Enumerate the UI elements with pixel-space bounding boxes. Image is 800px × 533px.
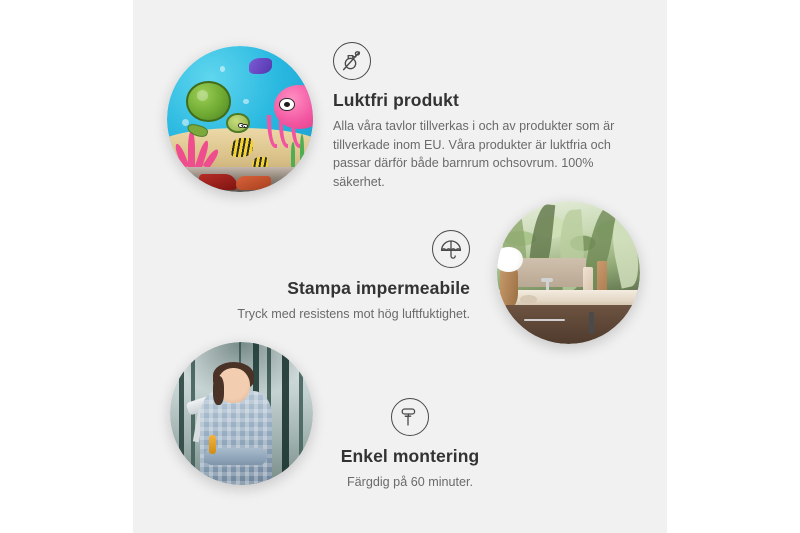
- feature-description: Alla våra tavlor tillverkas i och av pro…: [333, 117, 616, 192]
- feature-description: Färgdig på 60 minuter.: [300, 473, 520, 492]
- feature-odour-free: Luktfri produkt Alla våra tavlor tillver…: [333, 42, 616, 192]
- product-photo-forest-mural[interactable]: [170, 342, 313, 485]
- vase: [500, 267, 519, 307]
- feature-description: Tryck med resistens mot hög luftfuktighe…: [190, 305, 470, 324]
- bathroom-wallpaper-image: [497, 201, 640, 344]
- bubble-icon: [220, 66, 225, 71]
- coral-branch: [173, 143, 189, 169]
- feature-title: Enkel montering: [300, 446, 520, 467]
- turtle-eye: [242, 124, 248, 129]
- yellow-fish-icon: [231, 138, 253, 157]
- feature-title: Stampa impermeabile: [190, 278, 470, 299]
- octopus-eye: [279, 98, 294, 111]
- octopus-icon: [266, 85, 313, 149]
- feature-waterproof: Stampa impermeabile Tryck med resistens …: [190, 230, 470, 324]
- forest-mural-image: [170, 342, 313, 485]
- product-photo-ocean-mural[interactable]: [167, 46, 313, 192]
- woman-hair: [213, 376, 224, 405]
- umbrella-icon: [432, 230, 470, 268]
- no-odour-perfume-icon: [333, 42, 371, 80]
- coral-branch: [188, 130, 195, 169]
- feature-title: Luktfri produkt: [333, 90, 616, 111]
- turtle-shell: [186, 81, 231, 122]
- purple-fish-icon: [249, 58, 272, 74]
- turtle-head: [226, 113, 249, 133]
- screenshot-root: Luktfri produkt Alla våra tavlor tillver…: [0, 0, 800, 533]
- product-photo-bathroom-wallpaper[interactable]: [497, 201, 640, 344]
- soap-dish: [520, 295, 537, 304]
- room-floor-strip: [167, 167, 313, 192]
- paint-roller-icon: [391, 398, 429, 436]
- feature-easy-mounting: Enkel montering Färgdig på 60 minuter.: [300, 398, 520, 492]
- turtle-icon: [186, 81, 247, 131]
- ocean-mural-image: [167, 46, 313, 192]
- vanity-cabinet: [506, 305, 640, 344]
- octopus-tentacle: [267, 115, 276, 148]
- countertop: [497, 290, 640, 307]
- paint-roller-grip: [209, 435, 216, 454]
